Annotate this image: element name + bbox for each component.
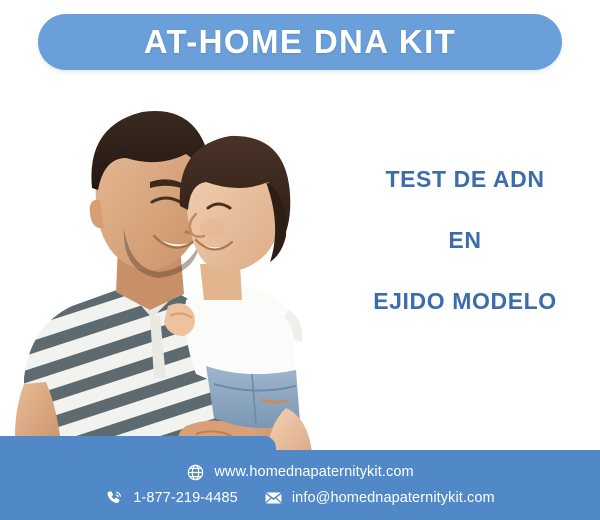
phone-label: 1-877-219-4485: [133, 490, 238, 506]
email-contact-item[interactable]: info@homednapaternitykit.com: [264, 489, 495, 508]
poster-canvas: AT-HOME DNA KIT: [0, 0, 600, 520]
headline-block: TEST DE ADN EN EJIDO MODELO: [330, 150, 600, 313]
headline-line-1: TEST DE ADN: [330, 168, 600, 191]
website-contact-item[interactable]: www.homednapaternitykit.com: [186, 463, 413, 482]
header-banner: AT-HOME DNA KIT: [38, 14, 562, 70]
footer-row-phone-email: 1-877-219-4485 info@homednapaternitykit.…: [105, 489, 495, 508]
phone-contact-item[interactable]: 1-877-219-4485: [105, 489, 238, 508]
email-label: info@homednapaternitykit.com: [292, 490, 495, 506]
headline-line-2: EN: [330, 229, 600, 252]
footer-row-website: www.homednapaternitykit.com: [186, 463, 413, 482]
headline-line-3: EJIDO MODELO: [330, 290, 600, 313]
father-and-child-photo: [0, 78, 330, 453]
page-title: AT-HOME DNA KIT: [144, 23, 456, 61]
footer-contact-group: www.homednapaternitykit.com 1-877-219-44…: [0, 450, 600, 520]
globe-icon: [186, 463, 205, 482]
envelope-icon: [264, 489, 283, 508]
website-label: www.homednapaternitykit.com: [214, 464, 413, 480]
phone-icon: [105, 489, 124, 508]
